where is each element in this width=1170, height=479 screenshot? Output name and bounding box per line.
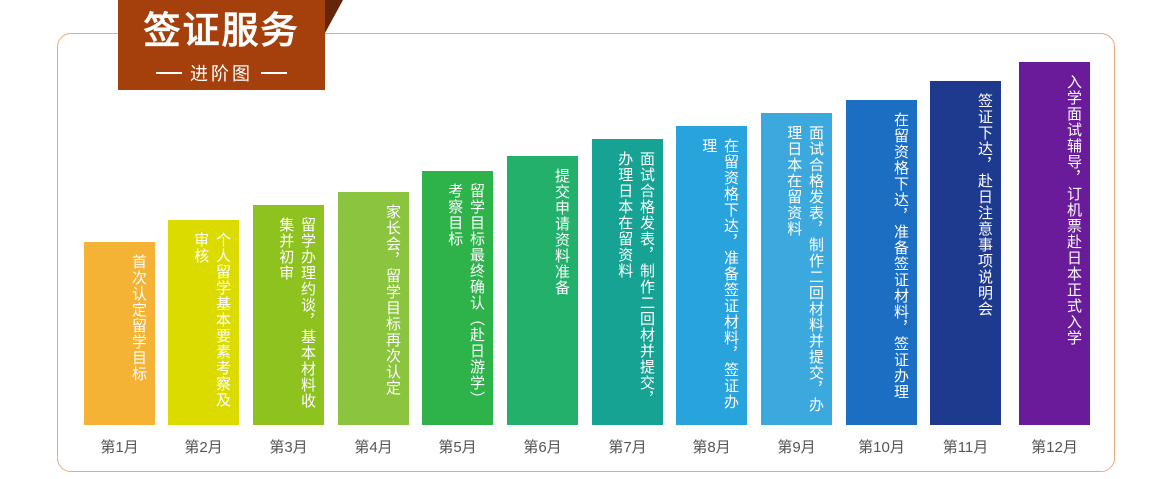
month-axis-label-8: 第8月 (676, 436, 747, 457)
bar-label-month-11: 签证下达，赴日注意事项说明会 (930, 81, 1001, 425)
month-axis-label-1: 第1月 (84, 436, 155, 457)
bar-label-month-12: 入学面试辅导，订机票赴日本正式入学 (1019, 62, 1090, 425)
bar-label-month-7: 面试合格发表，制作二回材并提交，办理日本在留资料 (592, 139, 663, 425)
bar-label-month-6: 提交申请资料准备 (507, 156, 578, 425)
bar-month-5[interactable]: 留学目标最终确认（赴日游学）考察目标 (422, 171, 493, 425)
bar-label-month-4: 家长会，留学目标再次认定 (338, 192, 409, 425)
title-banner: 签证服务 进阶图 (118, 0, 325, 90)
banner-subtitle-group: 进阶图 (118, 60, 325, 86)
bar-label-month-1: 首次认定留学目标 (84, 242, 155, 425)
bar-month-9[interactable]: 面试合格发表，制作二回材料并提交，办理日本在留资料 (761, 113, 832, 425)
month-axis-label-11: 第11月 (930, 436, 1001, 457)
bar-month-1[interactable]: 首次认定留学目标 (84, 242, 155, 425)
month-axis-label-5: 第5月 (422, 436, 493, 457)
bar-month-8[interactable]: 在留资格下达，准备签证材料，签证办理 (676, 126, 747, 425)
bar-month-4[interactable]: 家长会，留学目标再次认定 (338, 192, 409, 425)
month-axis-label-12: 第12月 (1019, 436, 1090, 457)
month-axis-label-6: 第6月 (507, 436, 578, 457)
month-axis-label-3: 第3月 (253, 436, 324, 457)
month-axis-label-4: 第4月 (338, 436, 409, 457)
bar-label-month-10: 在留资格下达，准备签证材料，签证办理 (846, 100, 917, 425)
bar-label-month-8: 在留资格下达，准备签证材料，签证办理 (676, 126, 747, 425)
bar-month-10[interactable]: 在留资格下达，准备签证材料，签证办理 (846, 100, 917, 425)
banner-fold-icon (325, 0, 343, 33)
month-axis-label-7: 第7月 (592, 436, 663, 457)
bar-month-6[interactable]: 提交申请资料准备 (507, 156, 578, 425)
bar-label-month-2: 个人留学基本要素考察及审核 (168, 220, 239, 425)
bar-month-12[interactable]: 入学面试辅导，订机票赴日本正式入学 (1019, 62, 1090, 425)
month-axis-label-9: 第9月 (761, 436, 832, 457)
bar-month-7[interactable]: 面试合格发表，制作二回材并提交，办理日本在留资料 (592, 139, 663, 425)
bar-label-month-9: 面试合格发表，制作二回材料并提交，办理日本在留资料 (761, 113, 832, 425)
bar-month-2[interactable]: 个人留学基本要素考察及审核 (168, 220, 239, 425)
visa-service-infographic: 首次认定留学目标第1月个人留学基本要素考察及审核第2月留学办理约谈，基本材料收集… (0, 0, 1170, 479)
banner-title: 签证服务 (118, 12, 325, 49)
bar-label-month-3: 留学办理约谈，基本材料收集并初审 (253, 205, 324, 425)
bar-month-11[interactable]: 签证下达，赴日注意事项说明会 (930, 81, 1001, 425)
month-axis-label-2: 第2月 (168, 436, 239, 457)
dash-right-decoration (261, 72, 287, 74)
bar-month-3[interactable]: 留学办理约谈，基本材料收集并初审 (253, 205, 324, 425)
dash-left-decoration (156, 72, 182, 74)
banner-subtitle: 进阶图 (190, 60, 253, 86)
month-axis-label-10: 第10月 (846, 436, 917, 457)
bar-label-month-5: 留学目标最终确认（赴日游学）考察目标 (422, 171, 493, 425)
